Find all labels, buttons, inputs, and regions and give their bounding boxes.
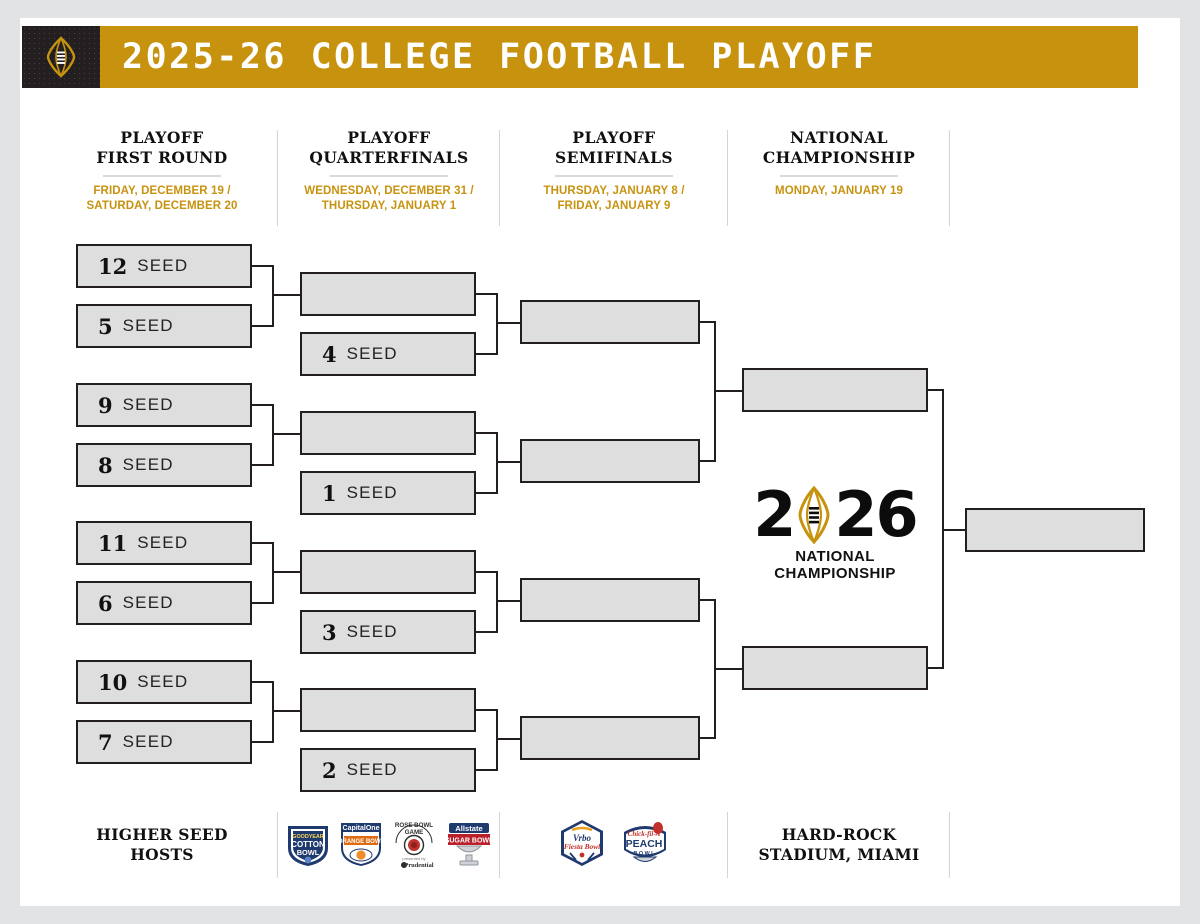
cfp-football-icon: [794, 484, 834, 546]
seed-number: 12: [98, 254, 127, 279]
footer-semifinal-bowls: Vrbo Fiesta Bowl Chick-fil-A PEACH B O: [500, 800, 728, 890]
svg-text:PEACH: PEACH: [626, 838, 663, 850]
footer-first-round: HIGHER SEED HOSTS: [46, 800, 278, 890]
first-round-box-2[interactable]: 5 SEED: [76, 304, 252, 348]
quarterfinal-box-4-winner[interactable]: [300, 688, 476, 732]
svg-text:BOWL: BOWL: [297, 848, 320, 857]
seed-label: SEED: [347, 622, 398, 642]
seed-number: 5: [98, 314, 113, 339]
round-name-line1: NATIONAL: [736, 128, 942, 148]
round-date-line1: THURSDAY, JANUARY 8 /: [508, 184, 720, 199]
logo-year-left: 2: [753, 484, 794, 546]
semifinal-box-1[interactable]: [520, 300, 700, 344]
higher-seed-hosts-line1: HIGHER SEED: [96, 825, 227, 845]
seed-number: 9: [98, 393, 113, 418]
quarterfinal-box-2-winner[interactable]: [300, 411, 476, 455]
svg-text:B O W L: B O W L: [634, 851, 656, 857]
round-date-line1: WEDNESDAY, DECEMBER 31 /: [286, 184, 492, 199]
first-round-box-8[interactable]: 7 SEED: [76, 720, 252, 764]
first-round-box-5[interactable]: 11 SEED: [76, 521, 252, 565]
quarterfinal-box-3-seed[interactable]: 3 SEED: [300, 610, 476, 654]
seed-label: SEED: [137, 672, 188, 692]
seed-number: 8: [98, 453, 113, 478]
svg-text:presented by: presented by: [402, 856, 425, 861]
national-semifinal-box-2[interactable]: [742, 646, 928, 690]
first-round-box-3[interactable]: 9 SEED: [76, 383, 252, 427]
seed-label: SEED: [123, 316, 174, 336]
round-name-line1: PLAYOFF: [54, 128, 270, 148]
page-footer: HIGHER SEED HOSTS GOODYEAR COTTON BOWL: [46, 800, 1136, 890]
championship-site-line2: STADIUM, MIAMI: [758, 845, 919, 865]
seed-number: 1: [322, 481, 337, 506]
round-name-line2: QUARTERFINALS: [286, 148, 492, 168]
round-header-quarterfinals: PLAYOFF QUARTERFINALS WEDNESDAY, DECEMBE…: [278, 128, 500, 228]
round-date-line1: MONDAY, JANUARY 19: [736, 184, 942, 199]
seed-label: SEED: [123, 395, 174, 415]
fiesta-bowl-logo-icon: Vrbo Fiesta Bowl: [556, 817, 608, 874]
semifinal-box-4[interactable]: [520, 716, 700, 760]
seed-number: 3: [322, 620, 337, 645]
round-header-semifinals: PLAYOFF SEMIFINALS THURSDAY, JANUARY 8 /…: [500, 128, 728, 228]
footer-quarterfinal-bowls: GOODYEAR COTTON BOWL CapitalOne ORANGE B…: [278, 800, 500, 890]
first-round-box-4[interactable]: 8 SEED: [76, 443, 252, 487]
rose-bowl-logo-icon: ROSE BOWL GAME presented by Prudential: [390, 817, 438, 874]
higher-seed-hosts-line2: HOSTS: [96, 845, 227, 865]
quarterfinal-box-4-seed[interactable]: 2 SEED: [300, 748, 476, 792]
peach-bowl-logo-icon: Chick-fil-A PEACH B O W L: [618, 818, 672, 873]
championship-site-line1: HARD-ROCK: [758, 825, 919, 845]
quarterfinal-box-3-winner[interactable]: [300, 550, 476, 594]
cotton-bowl-logo-icon: GOODYEAR COTTON BOWL: [284, 818, 332, 873]
round-name-line1: PLAYOFF: [508, 128, 720, 148]
first-round-box-7[interactable]: 10 SEED: [76, 660, 252, 704]
quarterfinal-box-1-seed[interactable]: 4 SEED: [300, 332, 476, 376]
header-title-bar: 2025-26 COLLEGE FOOTBALL PLAYOFF: [100, 26, 1138, 88]
svg-text:ROSE BOWL: ROSE BOWL: [395, 822, 433, 829]
seed-number: 10: [98, 670, 127, 695]
seed-number: 6: [98, 591, 113, 616]
page-header: 2025-26 COLLEGE FOOTBALL PLAYOFF: [22, 26, 1138, 88]
first-round-box-6[interactable]: 6 SEED: [76, 581, 252, 625]
svg-text:Prudential: Prudential: [404, 862, 433, 869]
sugar-bowl-logo-icon: Allstate SUGAR BOWL: [444, 818, 494, 873]
round-header-first-round: PLAYOFF FIRST ROUND FRIDAY, DECEMBER 19 …: [46, 128, 278, 228]
round-date-line2: FRIDAY, JANUARY 9: [508, 199, 720, 214]
seed-label: SEED: [347, 483, 398, 503]
seed-number: 4: [322, 342, 337, 367]
svg-text:CapitalOne: CapitalOne: [343, 825, 380, 832]
round-name-line2: CHAMPIONSHIP: [736, 148, 942, 168]
round-name-line2: SEMIFINALS: [508, 148, 720, 168]
first-round-box-1[interactable]: 12 SEED: [76, 244, 252, 288]
column-divider: [949, 812, 950, 878]
seed-label: SEED: [123, 455, 174, 475]
round-name-line1: PLAYOFF: [286, 128, 492, 148]
semifinal-box-3[interactable]: [520, 578, 700, 622]
column-divider: [949, 130, 950, 226]
round-rule: [330, 175, 448, 177]
footer-championship-site: HARD-ROCK STADIUM, MIAMI: [728, 800, 950, 890]
national-championship-logo: 2 26 NATIONAL CHAMPIONSHIP: [735, 484, 935, 576]
svg-text:ORANGE BOWL: ORANGE BOWL: [338, 839, 384, 845]
round-date-line1: FRIDAY, DECEMBER 19 /: [54, 184, 270, 199]
seed-label: SEED: [123, 732, 174, 752]
page-title: 2025-26 COLLEGE FOOTBALL PLAYOFF: [122, 37, 876, 77]
national-semifinal-box-1[interactable]: [742, 368, 928, 412]
quarterfinal-box-1-winner[interactable]: [300, 272, 476, 316]
svg-text:Chick-fil-A: Chick-fil-A: [628, 830, 661, 838]
round-name-line2: FIRST ROUND: [54, 148, 270, 168]
championship-box[interactable]: [965, 508, 1145, 552]
seed-label: SEED: [137, 533, 188, 553]
round-date-line2: THURSDAY, JANUARY 1: [286, 199, 492, 214]
seed-label: SEED: [347, 344, 398, 364]
seed-number: 11: [98, 531, 127, 556]
cfp-logo-block: [22, 26, 100, 88]
svg-text:SUGAR BOWL: SUGAR BOWL: [445, 837, 494, 844]
round-rule: [780, 175, 898, 177]
round-rule: [555, 175, 673, 177]
round-date-line2: SATURDAY, DECEMBER 20: [54, 199, 270, 214]
seed-number: 7: [98, 730, 113, 755]
seed-number: 2: [322, 758, 337, 783]
round-headers: PLAYOFF FIRST ROUND FRIDAY, DECEMBER 19 …: [46, 128, 1136, 228]
seed-label: SEED: [137, 256, 188, 276]
orange-bowl-logo-icon: CapitalOne ORANGE BOWL: [338, 818, 384, 873]
seed-label: SEED: [347, 760, 398, 780]
round-rule: [103, 175, 221, 177]
svg-text:Allstate: Allstate: [455, 824, 482, 833]
svg-text:Fiesta Bowl: Fiesta Bowl: [564, 842, 601, 851]
logo-subtitle: NATIONAL CHAMPIONSHIP: [735, 548, 935, 582]
cfp-bracket-page: 2025-26 COLLEGE FOOTBALL PLAYOFF PLAYOFF…: [0, 0, 1200, 924]
logo-year-right: 26: [834, 484, 916, 546]
round-header-national-championship: NATIONAL CHAMPIONSHIP MONDAY, JANUARY 19: [728, 128, 950, 228]
seed-label: SEED: [123, 593, 174, 613]
semifinal-box-2[interactable]: [520, 439, 700, 483]
quarterfinal-box-2-seed[interactable]: 1 SEED: [300, 471, 476, 515]
